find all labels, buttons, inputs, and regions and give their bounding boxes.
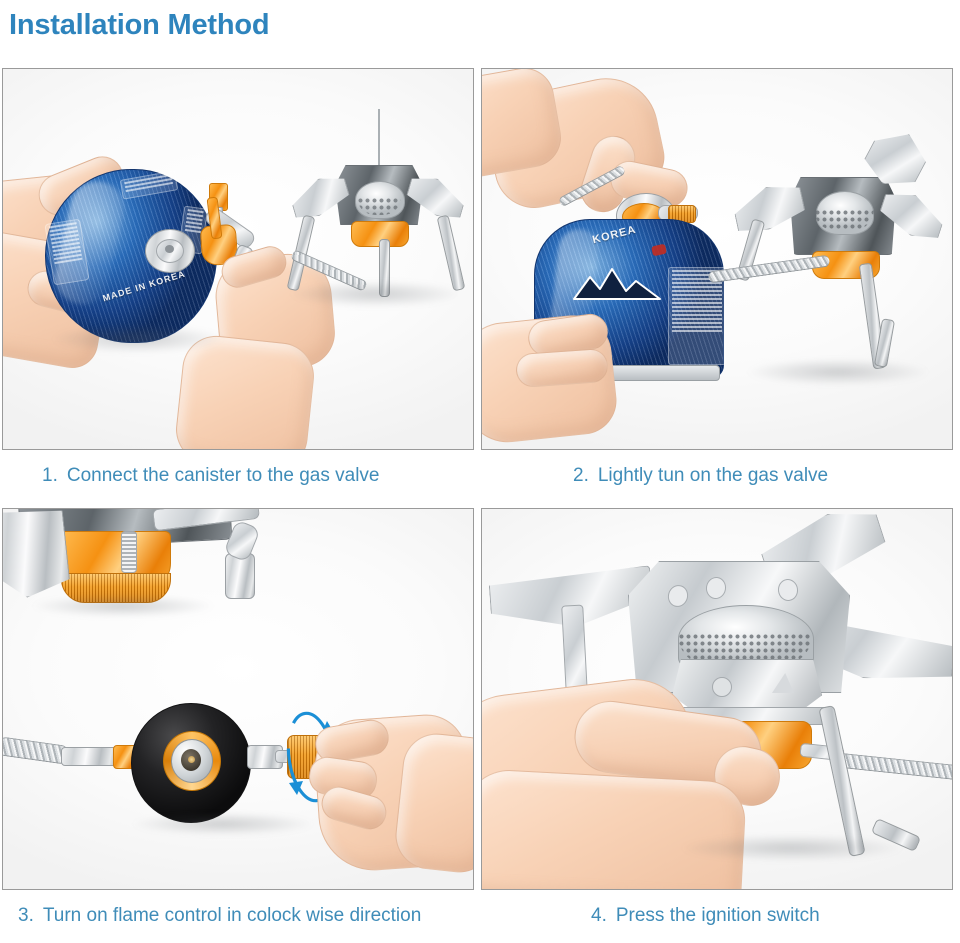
- hand-palm: [482, 768, 747, 889]
- gas-hose: [834, 752, 952, 781]
- stove-leg-right: [437, 215, 466, 292]
- step-2-scene: KOREA: [482, 69, 952, 449]
- step-2-caption: 2.Lightly tun on the gas valve: [481, 464, 953, 488]
- canister-mountain-logo: [570, 265, 664, 305]
- step-1-photo: MADE IN KOREA: [2, 68, 474, 450]
- hose-ferrule: [61, 747, 117, 766]
- stove-shadow: [291, 281, 461, 307]
- housing-center-pin: [188, 756, 195, 763]
- burner-skirt: [672, 659, 822, 711]
- steps-grid: MADE IN KOREA: [0, 68, 960, 938]
- lower-fingers: [515, 348, 609, 388]
- gas-hose: [3, 736, 70, 765]
- burner-skirt-hole: [712, 677, 732, 697]
- stove-shadow: [682, 835, 902, 861]
- step-4-number: 4.: [591, 905, 607, 926]
- step-4-caption-text: Press the ignition switch: [616, 905, 820, 926]
- installation-method-page: Installation Method MADE IN KOREA: [0, 0, 960, 943]
- stove-screw: [121, 531, 137, 573]
- stove-bracket-left: [3, 509, 71, 601]
- stove-shadow: [748, 359, 928, 385]
- step-4-photo: [481, 508, 953, 890]
- step-2-photo: KOREA: [481, 68, 953, 450]
- step-2-caption-text: Lightly tun on the gas valve: [598, 465, 828, 486]
- valve-shadow: [133, 813, 313, 835]
- step-1-caption-text: Connect the canister to the gas valve: [67, 465, 380, 486]
- step-4-scene: [482, 509, 952, 889]
- canister-shadow: [53, 325, 223, 353]
- step-3-number: 3.: [18, 905, 34, 926]
- step-3-photo: [2, 508, 474, 890]
- page-title: Installation Method: [9, 7, 269, 43]
- stove-cylinder-pin: [225, 553, 255, 599]
- step-3-caption: 3.Turn on flame control in colock wise d…: [2, 904, 474, 928]
- canister-valve-hole: [165, 245, 174, 253]
- step-1-scene: MADE IN KOREA: [3, 69, 473, 449]
- step-4-caption: 4.Press the ignition switch: [481, 904, 953, 928]
- stove-hose: [708, 255, 830, 284]
- step-2: KOREA: [481, 68, 953, 488]
- stove-antenna: [378, 109, 380, 165]
- mountain-logo-svg: [570, 265, 664, 305]
- step-4: 4.Press the ignition switch: [481, 508, 953, 928]
- step-3-scene: [3, 509, 473, 889]
- step-1-number: 1.: [42, 465, 58, 486]
- step-1: MADE IN KOREA: [2, 68, 474, 488]
- step-3: 3.Turn on flame control in colock wise d…: [2, 508, 474, 928]
- step-3-caption-text: Turn on flame control in colock wise dir…: [43, 905, 421, 926]
- stove-fragment-shadow: [33, 595, 213, 617]
- step-1-caption: 1.Connect the canister to the gas valve: [2, 464, 474, 488]
- step-2-number: 2.: [573, 465, 589, 486]
